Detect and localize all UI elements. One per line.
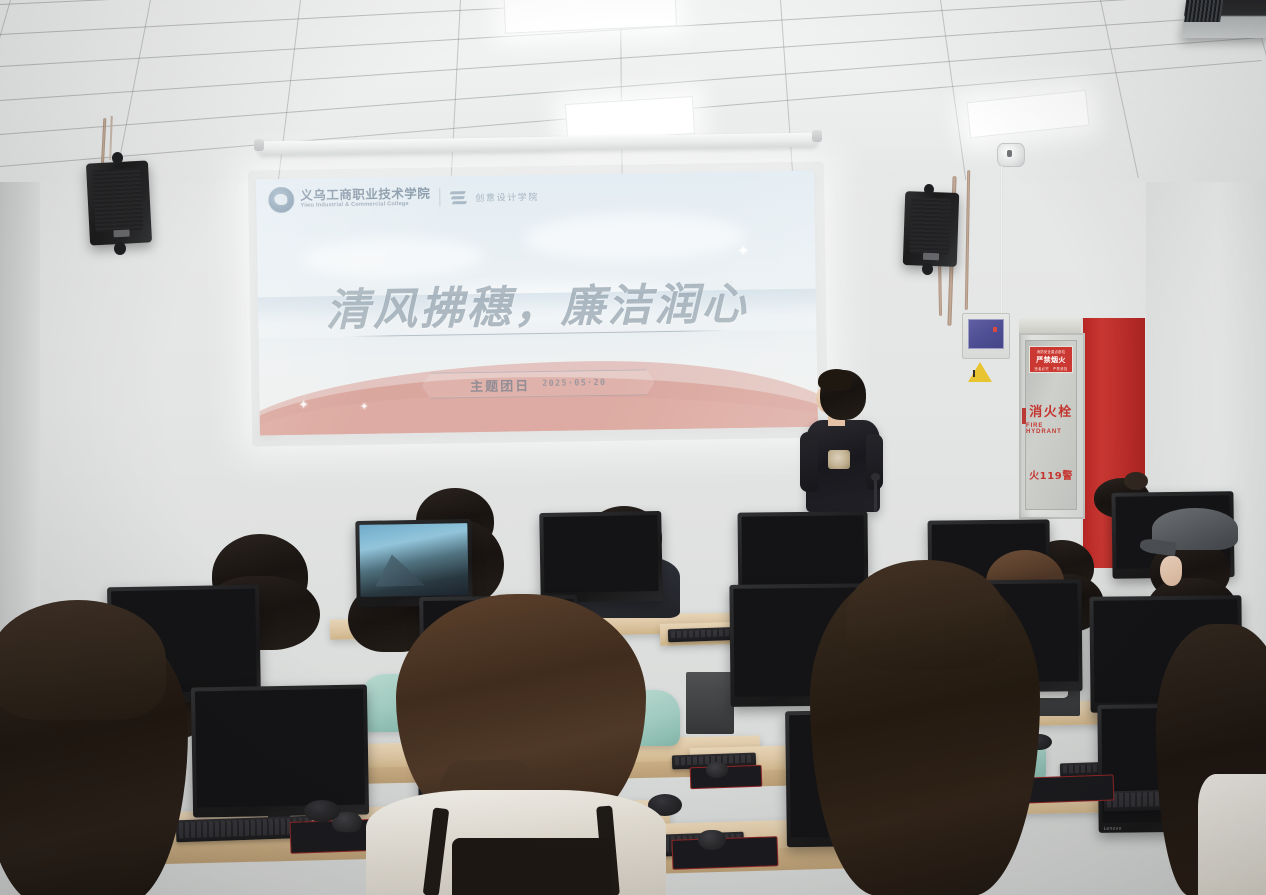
- fire-emergency-number: 火119警: [1029, 467, 1073, 482]
- control-panel-display[interactable]: [968, 319, 1004, 349]
- speaker-bracket: [112, 152, 123, 164]
- smoke-detector-led-icon: [1007, 150, 1012, 157]
- warning-triangle-icon: [968, 362, 992, 382]
- college-crest-icon: [268, 187, 294, 213]
- speaker-badge-icon: [923, 253, 939, 261]
- projection-screen: 义乌工商职业技术学院 Yiwu Industrial & Commercial …: [256, 171, 818, 436]
- computer-tower: [686, 672, 734, 734]
- sticker-bottom-text: 违者必究 严禁遮挡: [1034, 366, 1067, 371]
- mousepad: [1026, 774, 1115, 803]
- sticker-main-text: 严禁烟火: [1036, 355, 1066, 365]
- student-hair-bun: [1124, 472, 1148, 490]
- slide-logo-lockup: 义乌工商职业技术学院 Yiwu Industrial & Commercial …: [268, 183, 539, 213]
- presenter-sleeve-left: [800, 432, 818, 492]
- mouse[interactable]: [706, 762, 728, 778]
- bird-icon: ✦: [360, 403, 369, 413]
- microphone-icon: [874, 478, 877, 512]
- slide-ribbon-label: 主题团日: [470, 375, 530, 395]
- classroom-scene: 义乌工商职业技术学院 Yiwu Industrial & Commercial …: [0, 0, 1266, 895]
- slide-department-cn: 创意设计学院: [475, 189, 539, 203]
- slide-institution-cn: 义乌工商职业技术学院: [300, 188, 430, 203]
- student-front-left-head: [0, 600, 166, 720]
- student-front-center-dress: [452, 838, 612, 895]
- monitor-brand-label: Lenovo: [1104, 827, 1122, 832]
- student-far-right-sleeve: [1198, 774, 1266, 895]
- roller-end-cap: [812, 130, 822, 142]
- slide-ribbon: 主题团日 2025·05·20: [421, 369, 655, 399]
- presenter-shirt-graphic: [828, 450, 850, 469]
- control-panel-indicator-icon: [993, 327, 997, 332]
- bird-icon: ✦: [299, 399, 309, 411]
- wall-speaker-right: [903, 191, 960, 267]
- monitor-wallpaper: [359, 523, 468, 597]
- bird-icon: ✦: [737, 243, 750, 258]
- projector-vent-icon: [1184, 0, 1224, 22]
- suspended-ceiling: [0, 0, 1266, 182]
- bird-icon: ✦: [726, 277, 736, 289]
- slide-institution-en: Yiwu Industrial & Commercial College: [300, 202, 430, 210]
- slide-ribbon-date: 2025·05·20: [542, 378, 606, 389]
- speaker-bracket: [922, 263, 933, 275]
- student-hand: [1160, 556, 1182, 586]
- monitor-back-2: [539, 511, 663, 603]
- ceiling-light-panel: [503, 0, 677, 34]
- presenter-hair: [818, 369, 852, 391]
- fire-safety-sticker: 消防安全重点部位 严禁烟火 违者必究 严禁遮挡: [1029, 346, 1073, 373]
- ceiling-light-panel: [966, 90, 1089, 138]
- wall-speaker-left: [86, 160, 152, 245]
- wall-conduit: [1000, 166, 1003, 336]
- sticker-top-text: 消防安全重点部位: [1037, 349, 1066, 354]
- speaker-bracket: [114, 242, 126, 255]
- fire-hydrant-label-en: FIRE HYDRANT: [1026, 423, 1076, 435]
- speaker-badge-icon: [113, 229, 129, 237]
- speaker-bracket: [924, 184, 934, 195]
- mouse[interactable]: [698, 830, 726, 850]
- monitor-front-1: [191, 684, 369, 817]
- monitor-back-1: [355, 519, 472, 607]
- design-school-mark-icon: [449, 189, 469, 206]
- student-front-right-head: [846, 560, 1006, 670]
- roller-end-cap: [254, 139, 264, 151]
- fire-hydrant-label-cn: 消火栓: [1029, 401, 1073, 420]
- fire-hydrant-door[interactable]: 消防安全重点部位 严禁烟火 违者必究 严禁遮挡 消火栓 FIRE HYDRANT…: [1025, 340, 1077, 510]
- fire-cabinet-handle[interactable]: [1022, 408, 1026, 424]
- logo-divider: [439, 189, 440, 207]
